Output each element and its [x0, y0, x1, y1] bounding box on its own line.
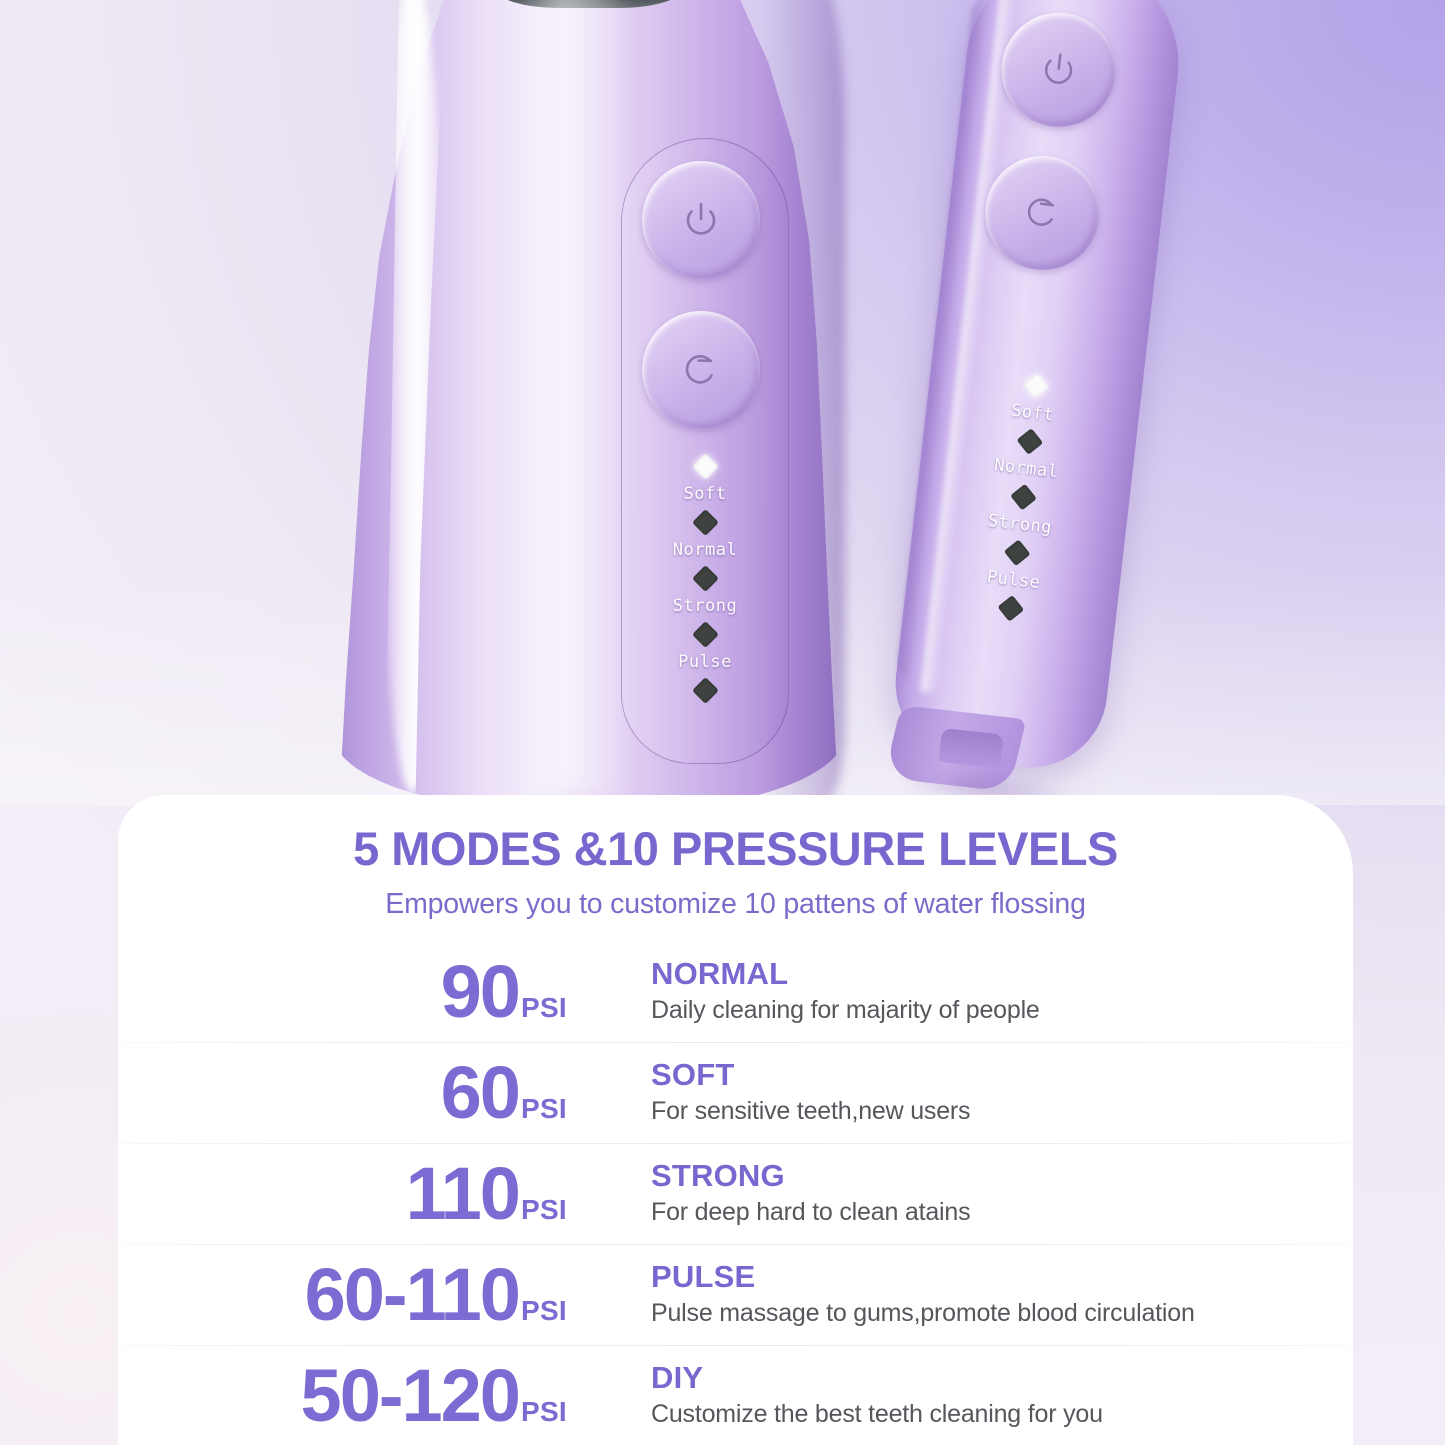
power-icon — [679, 198, 723, 242]
led-indicator — [1010, 484, 1037, 511]
mode-cell: STRONG For deep hard to clean atains — [573, 1159, 1317, 1229]
led-label: Strong — [673, 596, 737, 616]
psi-value: 110 — [406, 1157, 519, 1231]
control-panel-strip: Soft Normal Strong Pulse — [887, 0, 1189, 776]
power-button[interactable] — [642, 161, 760, 279]
product-photo: Soft Normal Strong Pulse — [0, 0, 1445, 812]
mode-description: Customize the best teeth cleaning for yo… — [651, 1399, 1317, 1430]
psi-cell: 90 PSI — [118, 955, 573, 1029]
strip-foot-notch — [939, 728, 1004, 769]
led-label: Soft — [1010, 401, 1055, 426]
handle-control-panel: Soft Normal Strong Pulse — [621, 138, 789, 764]
led-indicator — [692, 453, 719, 480]
led-label: Pulse — [678, 652, 732, 672]
psi-unit: PSI — [521, 1297, 567, 1325]
mode-name: DIY — [651, 1361, 1317, 1396]
table-row: 60-110 PSI PULSE Pulse massage to gums,p… — [118, 1244, 1353, 1345]
led-label: Strong — [987, 511, 1053, 538]
psi-value: 60-110 — [305, 1258, 519, 1332]
mode-cycle-icon — [1019, 190, 1065, 236]
psi-cell: 110 PSI — [118, 1157, 573, 1231]
psi-unit: PSI — [521, 1095, 567, 1123]
psi-unit: PSI — [521, 1398, 567, 1426]
table-row: 60 PSI SOFT For sensitive teeth,new user… — [118, 1042, 1353, 1143]
power-icon — [1035, 47, 1081, 93]
water-flosser-handle: Soft Normal Strong Pulse — [333, 0, 845, 810]
psi-value: 60 — [441, 1056, 519, 1130]
mode-cell: PULSE Pulse massage to gums,promote bloo… — [573, 1260, 1317, 1330]
psi-value: 90 — [441, 955, 519, 1029]
info-card: 5 MODES &10 PRESSURE LEVELS Empowers you… — [118, 795, 1353, 1445]
led-indicator — [1016, 428, 1043, 455]
table-row: 110 PSI STRONG For deep hard to clean at… — [118, 1143, 1353, 1244]
mode-name: NORMAL — [651, 957, 1317, 992]
psi-value: 50-120 — [301, 1359, 519, 1433]
led-indicator — [1022, 372, 1049, 399]
handle-led-column: Soft Normal Strong Pulse — [622, 457, 788, 700]
mode-cycle-icon — [679, 348, 723, 392]
table-row: 50-120 PSI DIY Customize the best teeth … — [118, 1345, 1353, 1445]
led-label: Pulse — [986, 567, 1042, 593]
mode-name: PULSE — [651, 1260, 1317, 1295]
mode-description: For deep hard to clean atains — [651, 1197, 1317, 1228]
psi-cell: 50-120 PSI — [118, 1359, 573, 1433]
led-label: Normal — [993, 455, 1059, 482]
page-subtitle: Empowers you to customize 10 pattens of … — [118, 888, 1353, 921]
psi-cell: 60 PSI — [118, 1056, 573, 1130]
psi-cell: 60-110 PSI — [118, 1258, 573, 1332]
mode-description: For sensitive teeth,new users — [651, 1096, 1317, 1127]
table-row: 90 PSI NORMAL Daily cleaning for majarit… — [118, 941, 1353, 1042]
led-indicator — [692, 621, 719, 648]
mode-name: STRONG — [651, 1159, 1317, 1194]
strip-led-column: Soft Normal Strong Pulse — [904, 364, 1142, 629]
psi-unit: PSI — [521, 1196, 567, 1224]
led-indicator — [692, 565, 719, 592]
led-label: Normal — [673, 540, 737, 560]
page-title: 5 MODES &10 PRESSURE LEVELS — [118, 825, 1353, 872]
pressure-mode-table: 90 PSI NORMAL Daily cleaning for majarit… — [118, 941, 1353, 1445]
led-indicator — [1003, 539, 1030, 566]
mode-description: Daily cleaning for majarity of people — [651, 995, 1317, 1026]
mode-description: Pulse massage to gums,promote blood circ… — [651, 1298, 1317, 1329]
mode-cell: DIY Customize the best teeth cleaning fo… — [573, 1361, 1317, 1431]
mode-cell: SOFT For sensitive teeth,new users — [573, 1058, 1317, 1128]
handle-highlight-center — [517, 0, 619, 793]
led-indicator — [692, 509, 719, 536]
mode-cell: NORMAL Daily cleaning for majarity of pe… — [573, 957, 1317, 1027]
mode-name: SOFT — [651, 1058, 1317, 1093]
led-label: Soft — [684, 484, 727, 504]
led-indicator — [692, 677, 719, 704]
mode-button[interactable] — [642, 311, 760, 429]
psi-unit: PSI — [521, 994, 567, 1022]
